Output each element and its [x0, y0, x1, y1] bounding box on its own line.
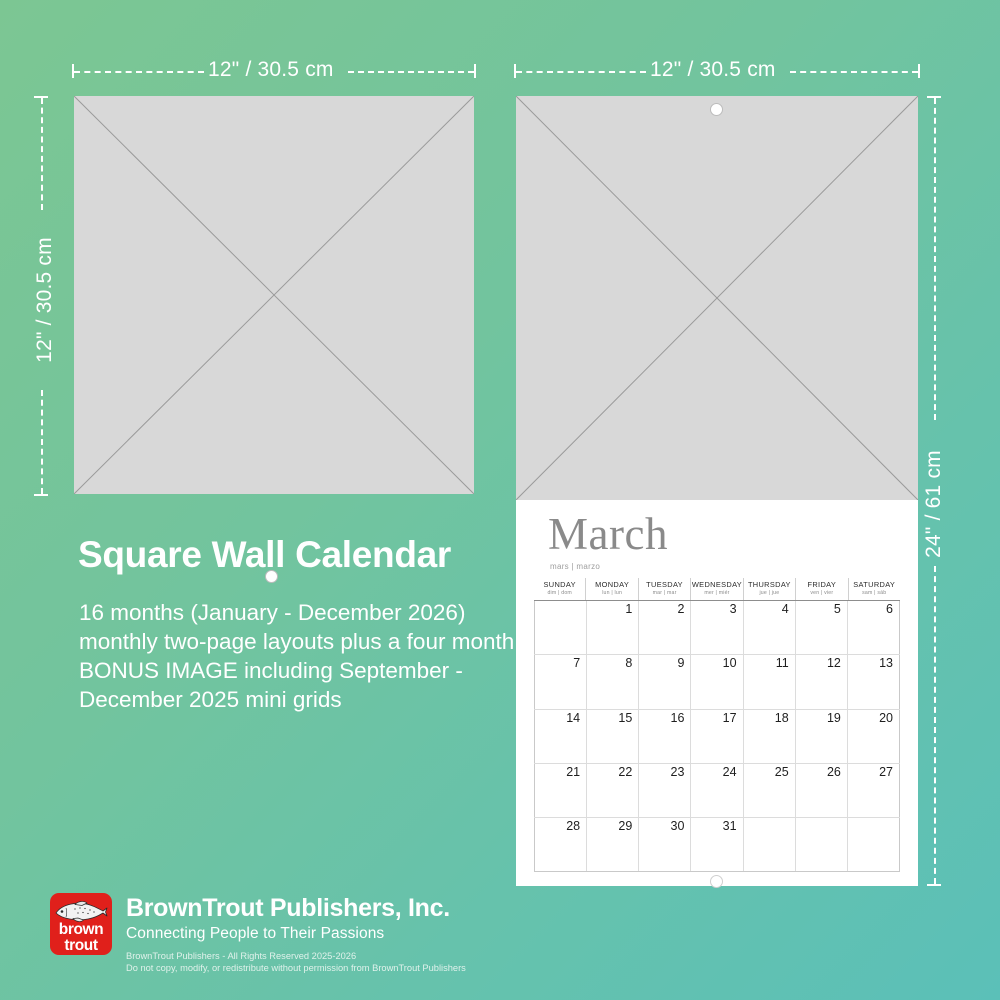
dim-label-top-left: 12" / 30.5 cm — [208, 58, 334, 82]
calendar-day-cell[interactable]: 12 — [795, 655, 847, 708]
weekday-translation: lun | lun — [586, 590, 637, 597]
calendar-day-number: 30 — [671, 820, 685, 834]
calendar-weekday-saturday: SATURDAYsam | sáb — [848, 578, 900, 600]
weekday-name: SATURDAY — [849, 581, 900, 590]
calendar-day-number: 5 — [834, 603, 841, 617]
calendar-day-number: 6 — [886, 603, 893, 617]
calendar-day-number: 31 — [723, 820, 737, 834]
calendar-week-row: 14151617181920 — [534, 710, 900, 764]
calendar-day-cell[interactable]: 27 — [847, 764, 900, 817]
calendar-day-cell[interactable]: 14 — [534, 710, 586, 763]
weekday-name: FRIDAY — [796, 581, 847, 590]
hole-punch-calendar-bottom — [710, 875, 723, 888]
calendar-weekday-sunday: SUNDAYdim | dom — [534, 578, 585, 600]
weekday-translation: mar | mar — [639, 590, 690, 597]
calendar-week-row: 78910111213 — [534, 655, 900, 709]
calendar-day-number: 3 — [730, 603, 737, 617]
placeholder-cross-icon — [74, 96, 474, 494]
dim-cap-top-left-end — [474, 64, 476, 78]
legal-line-1: BrownTrout Publishers - All Rights Reser… — [126, 951, 466, 963]
calendar-empty-cell[interactable] — [847, 818, 900, 871]
calendar-day-cell[interactable]: 20 — [847, 710, 900, 763]
dim-cap-top-right-end — [918, 64, 920, 78]
legal-line-2: Do not copy, modify, or redistribute wit… — [126, 963, 466, 975]
calendar-day-cell[interactable]: 5 — [795, 601, 847, 654]
calendar-day-cell[interactable]: 24 — [690, 764, 742, 817]
calendar-day-number: 14 — [566, 712, 580, 726]
calendar-grid: SUNDAYdim | domMONDAYlun | lunTUESDAYmar… — [534, 578, 900, 872]
calendar-day-cell[interactable]: 2 — [638, 601, 690, 654]
logo-wordmark: brown trout — [50, 922, 112, 953]
footer-brand: brown trout BrownTrout Publishers, Inc. … — [50, 893, 466, 974]
calendar-day-cell[interactable]: 28 — [534, 818, 586, 871]
calendar-day-number: 19 — [827, 712, 841, 726]
calendar-day-cell[interactable]: 22 — [586, 764, 638, 817]
weekday-name: WEDNESDAY — [691, 581, 742, 590]
calendar-day-number: 24 — [723, 766, 737, 780]
calendar-weekday-friday: FRIDAYven | vier — [795, 578, 847, 600]
calendar-day-number: 22 — [618, 766, 632, 780]
calendar-weeks: 1234567891011121314151617181920212223242… — [534, 601, 900, 872]
calendar-day-cell[interactable]: 19 — [795, 710, 847, 763]
weekday-name: TUESDAY — [639, 581, 690, 590]
calendar-day-number: 26 — [827, 766, 841, 780]
weekday-name: MONDAY — [586, 581, 637, 590]
weekday-translation: jue | jue — [744, 590, 795, 597]
calendar-day-cell[interactable]: 29 — [586, 818, 638, 871]
calendar-day-number: 2 — [677, 603, 684, 617]
calendar-day-cell[interactable]: 13 — [847, 655, 900, 708]
calendar-month-subtitle: mars | marzo — [550, 562, 600, 571]
calendar-empty-cell[interactable] — [795, 818, 847, 871]
logo-word-line1: brown — [50, 922, 112, 938]
calendar-day-cell[interactable]: 9 — [638, 655, 690, 708]
calendar-day-cell[interactable]: 10 — [690, 655, 742, 708]
publisher-name: BrownTrout Publishers, Inc. — [126, 895, 466, 923]
calendar-day-cell[interactable]: 4 — [743, 601, 795, 654]
weekday-translation: mer | miér — [691, 590, 742, 597]
calendar-day-cell[interactable]: 18 — [743, 710, 795, 763]
browntrout-logo: brown trout — [50, 893, 112, 955]
calendar-day-number: 29 — [618, 820, 632, 834]
dim-cap-left-bottom — [34, 494, 48, 496]
dim-line-right-b — [934, 566, 936, 884]
calendar-weekday-header: SUNDAYdim | domMONDAYlun | lunTUESDAYmar… — [534, 578, 900, 601]
calendar-day-number: 27 — [879, 766, 893, 780]
dim-label-top-right: 12" / 30.5 cm — [650, 58, 776, 82]
dim-line-top-right-b — [790, 71, 918, 73]
calendar-day-cell[interactable]: 30 — [638, 818, 690, 871]
calendar-day-number: 18 — [775, 712, 789, 726]
calendar-day-cell[interactable]: 17 — [690, 710, 742, 763]
left-image-panel — [74, 96, 474, 494]
weekday-name: THURSDAY — [744, 581, 795, 590]
calendar-day-cell[interactable]: 7 — [534, 655, 586, 708]
calendar-week-row: 21222324252627 — [534, 764, 900, 818]
calendar-weekday-tuesday: TUESDAYmar | mar — [638, 578, 690, 600]
calendar-day-number: 17 — [723, 712, 737, 726]
weekday-translation: sam | sáb — [849, 590, 900, 597]
calendar-day-number: 15 — [618, 712, 632, 726]
calendar-day-cell[interactable]: 11 — [743, 655, 795, 708]
dim-line-top-left-a — [74, 71, 204, 73]
product-description: 16 months (January - December 2026) mont… — [79, 598, 519, 714]
weekday-name: SUNDAY — [534, 581, 585, 590]
calendar-day-number: 9 — [677, 657, 684, 671]
calendar-day-cell[interactable]: 21 — [534, 764, 586, 817]
calendar-day-number: 7 — [573, 657, 580, 671]
calendar-day-cell[interactable]: 23 — [638, 764, 690, 817]
calendar-day-number: 4 — [782, 603, 789, 617]
calendar-day-cell[interactable]: 3 — [690, 601, 742, 654]
right-image-panel — [516, 96, 918, 500]
calendar-day-cell[interactable]: 26 — [795, 764, 847, 817]
calendar-week-row: 28293031 — [534, 818, 900, 872]
weekday-translation: dim | dom — [534, 590, 585, 597]
calendar-day-number: 10 — [723, 657, 737, 671]
calendar-day-number: 23 — [671, 766, 685, 780]
brand-text-block: BrownTrout Publishers, Inc. Connecting P… — [126, 893, 466, 974]
legal-notice: BrownTrout Publishers - All Rights Reser… — [126, 951, 466, 974]
dim-line-top-right-a — [516, 71, 646, 73]
calendar-day-number: 28 — [566, 820, 580, 834]
calendar-day-cell[interactable]: 25 — [743, 764, 795, 817]
calendar-day-cell[interactable]: 1 — [586, 601, 638, 654]
calendar-weekday-wednesday: WEDNESDAYmer | miér — [690, 578, 742, 600]
calendar-day-number: 12 — [827, 657, 841, 671]
dim-cap-right-bottom — [927, 884, 941, 886]
calendar-page: March mars | marzo SUNDAYdim | domMONDAY… — [516, 500, 918, 886]
calendar-day-cell[interactable]: 8 — [586, 655, 638, 708]
dim-line-top-left-b — [348, 71, 474, 73]
calendar-day-cell[interactable]: 16 — [638, 710, 690, 763]
page-title: Square Wall Calendar — [78, 534, 451, 576]
calendar-day-number: 20 — [879, 712, 893, 726]
logo-word-line2: trout — [50, 938, 112, 954]
dim-line-right-a — [934, 98, 936, 420]
calendar-day-number: 21 — [566, 766, 580, 780]
dim-label-right: 24" / 61 cm — [922, 434, 946, 574]
calendar-day-cell[interactable]: 15 — [586, 710, 638, 763]
dim-line-left-a — [41, 98, 43, 210]
calendar-day-number: 8 — [625, 657, 632, 671]
calendar-day-number: 1 — [625, 603, 632, 617]
dim-line-left-b — [41, 390, 43, 494]
calendar-weekday-monday: MONDAYlun | lun — [585, 578, 637, 600]
calendar-week-row: 123456 — [534, 601, 900, 655]
calendar-day-cell[interactable]: 6 — [847, 601, 900, 654]
placeholder-cross-icon — [516, 96, 918, 500]
weekday-translation: ven | vier — [796, 590, 847, 597]
hole-punch-right-panel-top — [710, 103, 723, 116]
calendar-day-cell[interactable]: 31 — [690, 818, 742, 871]
calendar-day-number: 16 — [671, 712, 685, 726]
dim-label-left: 12" / 30.5 cm — [33, 220, 57, 380]
calendar-day-number: 11 — [776, 657, 789, 671]
calendar-day-number: 25 — [775, 766, 789, 780]
publisher-tagline: Connecting People to Their Passions — [126, 924, 466, 945]
calendar-month-title: March — [548, 512, 668, 557]
calendar-empty-cell[interactable] — [534, 601, 586, 654]
calendar-empty-cell[interactable] — [743, 818, 795, 871]
calendar-day-number: 13 — [879, 657, 893, 671]
calendar-weekday-thursday: THURSDAYjue | jue — [743, 578, 795, 600]
